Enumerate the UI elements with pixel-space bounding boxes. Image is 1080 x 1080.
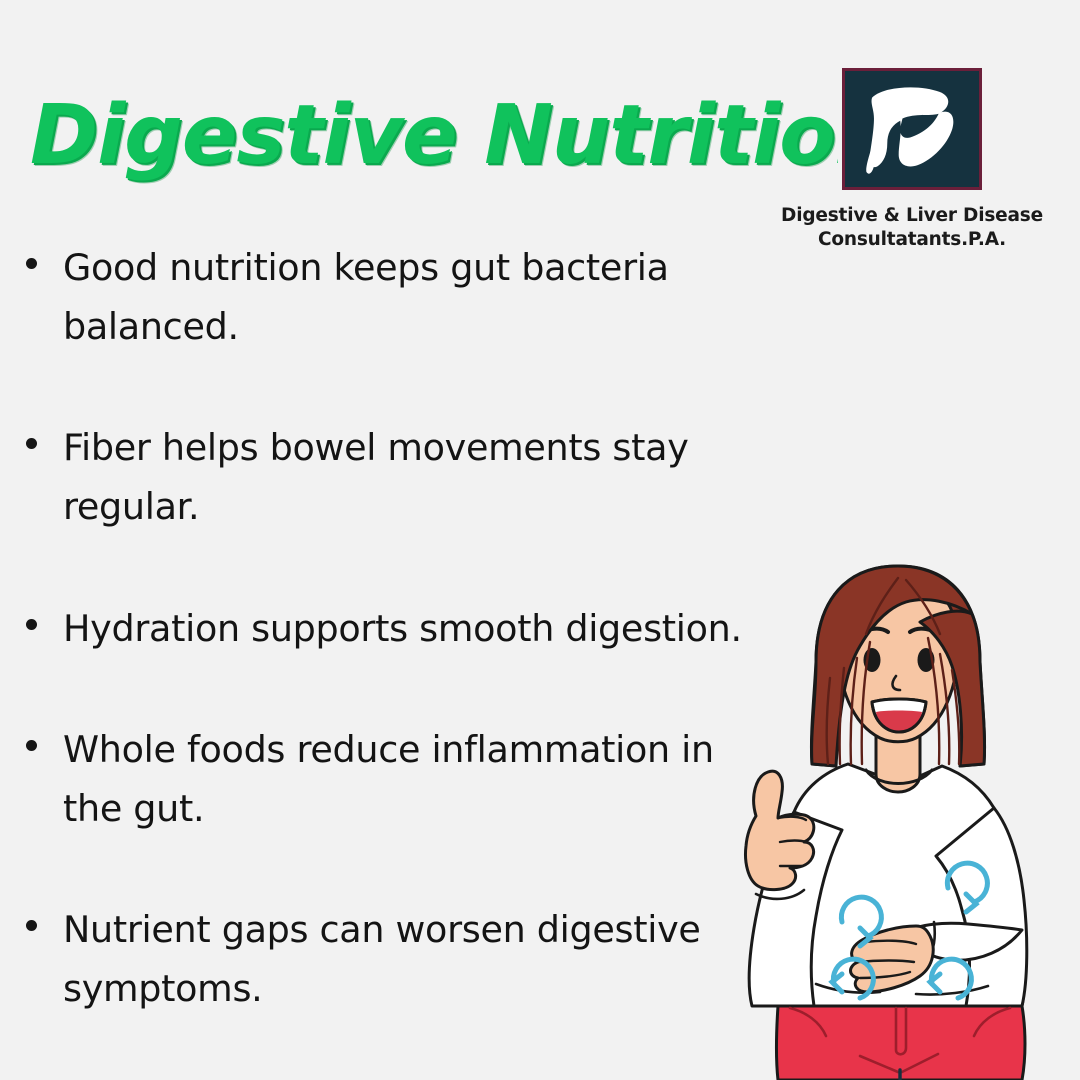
bullet-dot-icon bbox=[26, 619, 37, 630]
list-item-text: Nutrient gaps can worsen digestive sympt… bbox=[63, 900, 743, 1018]
brand-logo-block: Digestive & Liver Disease Consultatants.… bbox=[762, 68, 1062, 253]
smiling-woman-thumbs-up-illustration bbox=[720, 550, 1080, 1080]
bullet-dot-icon bbox=[26, 740, 37, 751]
poster-canvas: Digestive Nutrition Digestive & Liver Di… bbox=[0, 0, 1080, 1080]
bullet-dot-icon bbox=[26, 438, 37, 449]
brand-name-text: Digestive & Liver Disease Consultatants.… bbox=[762, 204, 1062, 253]
brand-name-line2: Consultatants.P.A. bbox=[762, 228, 1062, 252]
list-item: Fiber helps bowel movements stay regular… bbox=[26, 418, 766, 536]
list-item-text: Whole foods reduce inflammation in the g… bbox=[63, 720, 743, 838]
list-item: Whole foods reduce inflammation in the g… bbox=[26, 720, 766, 838]
tips-list: Good nutrition keeps gut bacteria balanc… bbox=[26, 238, 766, 1080]
list-item: Hydration supports smooth digestion. bbox=[26, 599, 766, 658]
digestion-swirl-arrows bbox=[832, 863, 987, 998]
bullet-dot-icon bbox=[26, 920, 37, 931]
brand-name-line1: Digestive & Liver Disease bbox=[762, 204, 1062, 228]
list-item: Good nutrition keeps gut bacteria balanc… bbox=[26, 238, 766, 356]
list-item-text: Hydration supports smooth digestion. bbox=[63, 599, 742, 658]
list-item-text: Fiber helps bowel movements stay regular… bbox=[63, 418, 743, 536]
bullet-dot-icon bbox=[26, 258, 37, 269]
list-item-text: Good nutrition keeps gut bacteria balanc… bbox=[63, 238, 743, 356]
list-item: Nutrient gaps can worsen digestive sympt… bbox=[26, 900, 766, 1018]
liver-organ-logo-icon bbox=[842, 68, 982, 190]
